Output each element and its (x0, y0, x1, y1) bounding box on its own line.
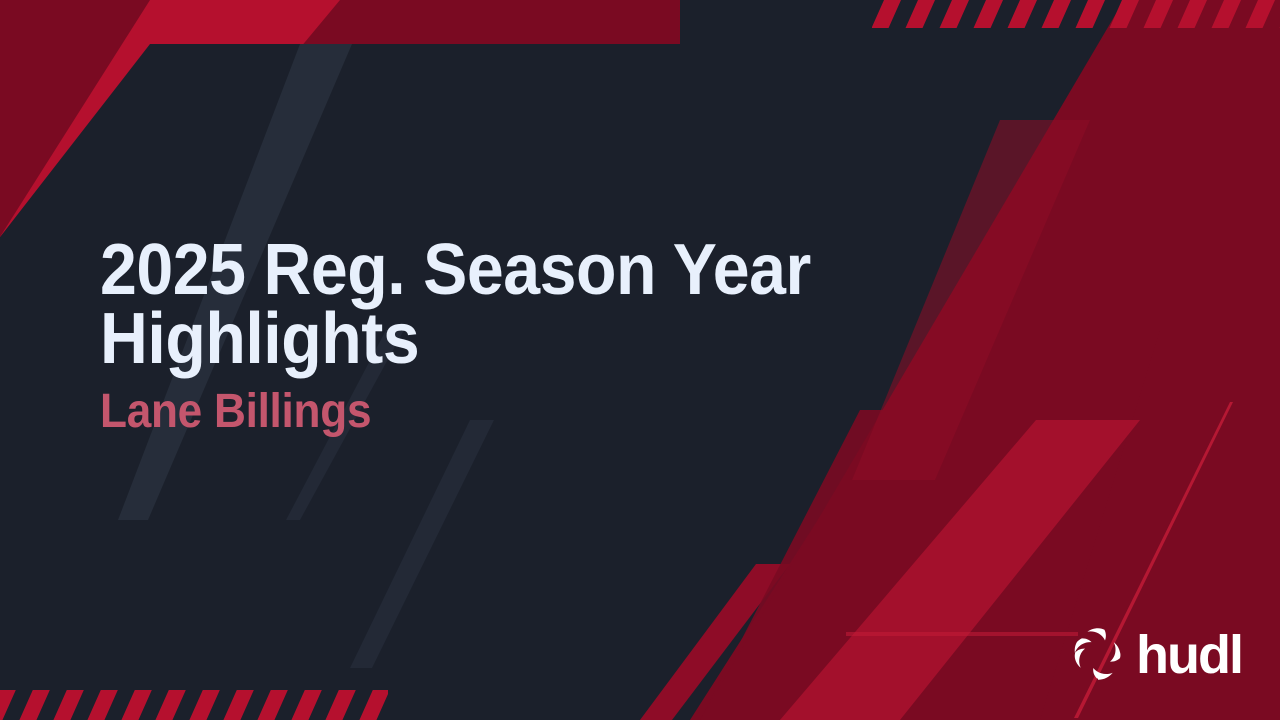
athlete-name: Lane Billings (100, 388, 836, 436)
top-stripe-band (872, 0, 1280, 28)
hudl-orb-icon (1070, 626, 1126, 682)
bottom-stripe-band (0, 690, 388, 720)
hudl-wordmark: hudl (1136, 628, 1242, 682)
right-hairline-2 (846, 632, 1078, 636)
title-text-block: 2025 Reg. Season Year Highlights Lane Bi… (100, 236, 900, 436)
hudl-logo: hudl (1070, 626, 1242, 682)
title-slide: 2025 Reg. Season Year Highlights Lane Bi… (0, 0, 1280, 720)
slide-title: 2025 Reg. Season Year Highlights (100, 236, 836, 374)
